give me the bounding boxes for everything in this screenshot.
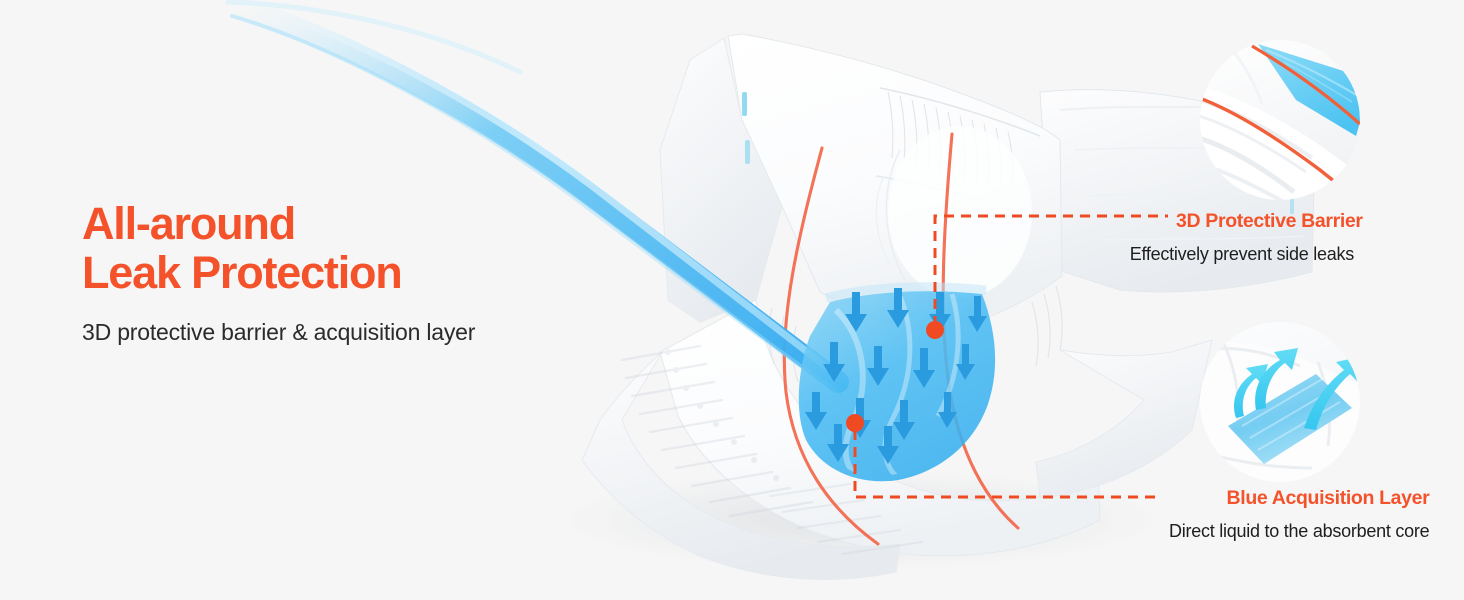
leader-line-acquisition (855, 430, 1160, 497)
callout-protective-barrier: 3D Protective Barrier Effectively preven… (1176, 212, 1363, 263)
callout-title-barrier: 3D Protective Barrier (1176, 212, 1363, 232)
marker-dot-acquisition (846, 414, 864, 432)
inset-protective-barrier (1200, 40, 1360, 200)
callout-subtitle-acquisition: Direct liquid to the absorbent core (1169, 522, 1429, 540)
callout-acquisition-layer: Blue Acquisition Layer Direct liquid to … (1169, 489, 1429, 540)
infographic-canvas: All-around Leak Protection 3D protective… (0, 0, 1464, 600)
callout-title-acquisition: Blue Acquisition Layer (1169, 489, 1429, 509)
page-title: All-around Leak Protection (82, 200, 642, 297)
inset-acquisition-layer (1200, 322, 1360, 482)
callout-subtitle-barrier: Effectively prevent side leaks (1118, 245, 1354, 263)
headline-line-2: Leak Protection (82, 249, 642, 298)
leader-line-barrier (935, 216, 1168, 326)
headline-line-1: All-around (82, 198, 295, 249)
marker-dot-barrier (926, 321, 944, 339)
hero-subheadline: 3D protective barrier & acquisition laye… (82, 319, 642, 346)
hero-copy-block: All-around Leak Protection 3D protective… (82, 200, 642, 346)
